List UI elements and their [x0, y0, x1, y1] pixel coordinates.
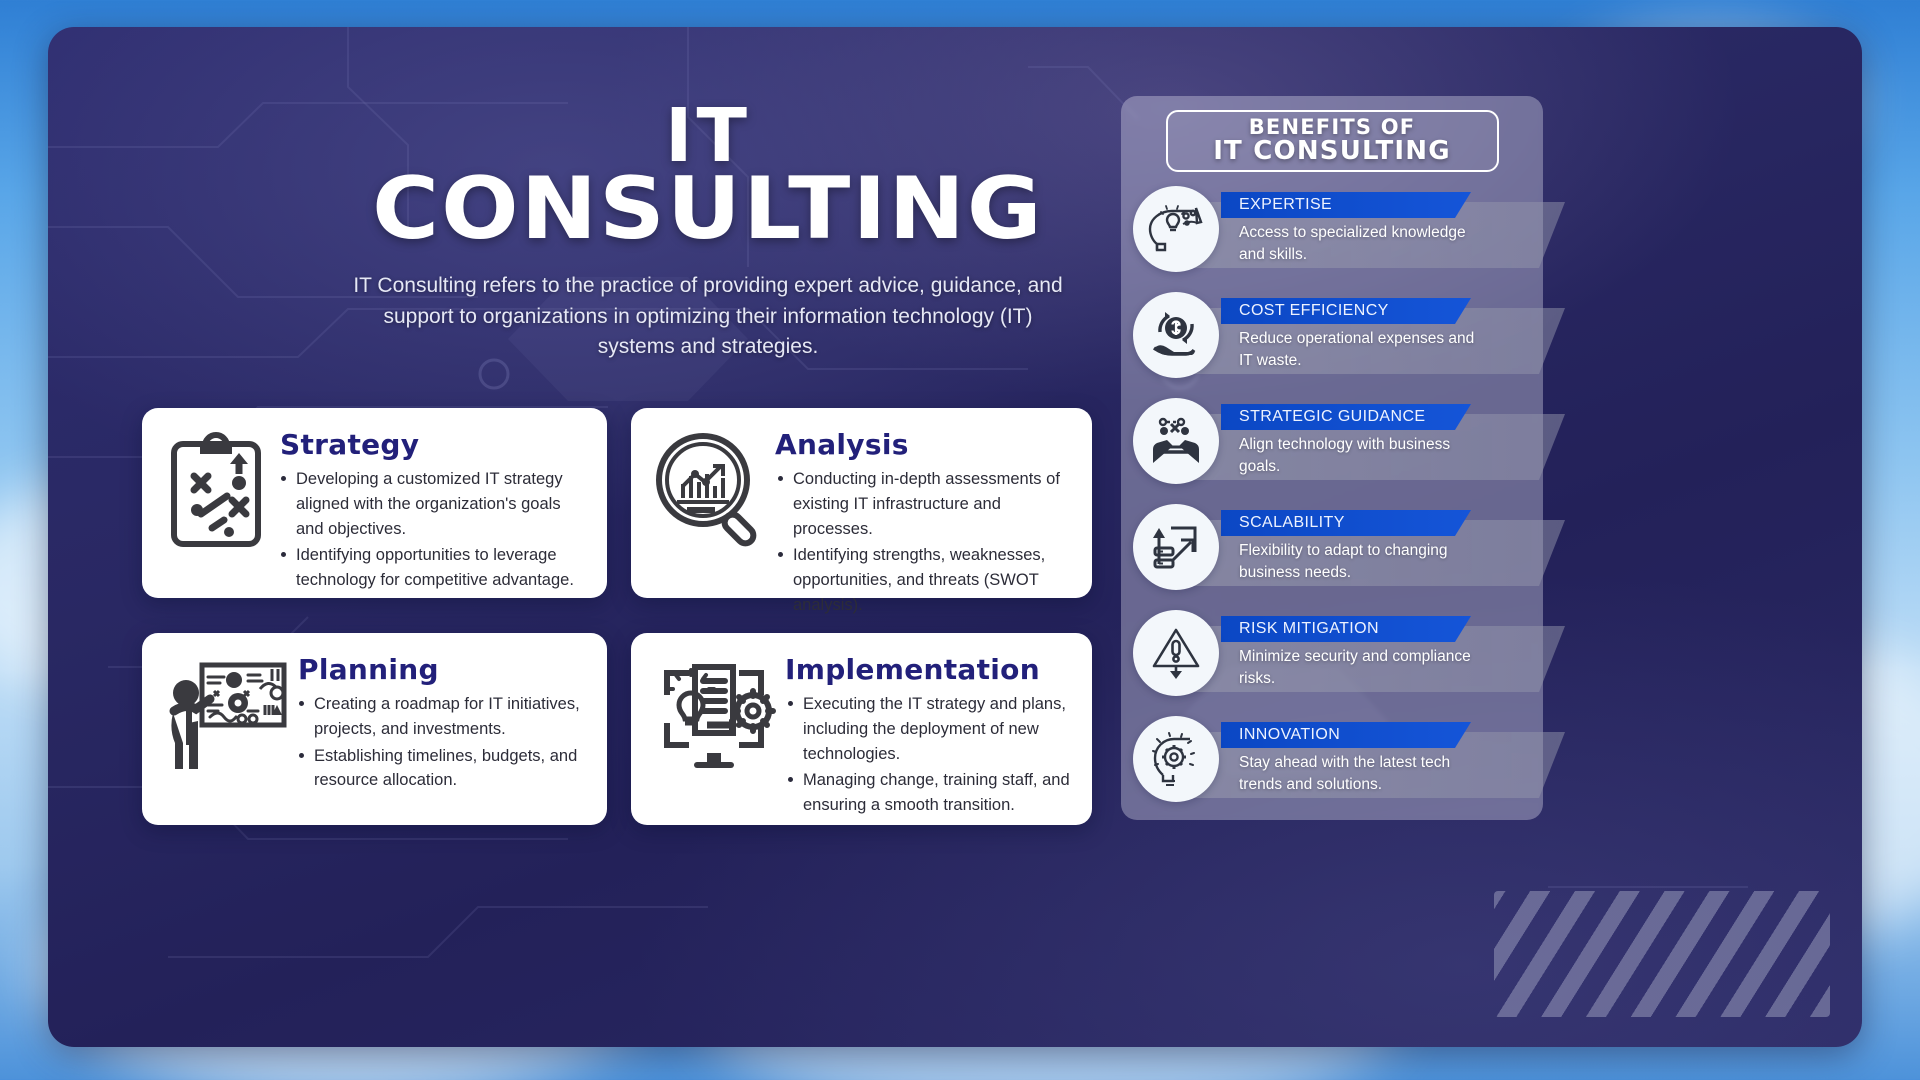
card-implementation[interactable]: Implementation Executing the IT strategy…	[631, 633, 1092, 825]
page-title: IT CONSULTING IT Consulting refers to th…	[348, 102, 1068, 363]
benefit-title: SCALABILITY	[1221, 514, 1345, 532]
card-title: Strategy	[278, 428, 589, 461]
presenter-whiteboard-icon	[160, 653, 290, 779]
benefit-description: Align technology with business goals.	[1239, 434, 1489, 479]
title-line-2: CONSULTING	[326, 170, 1089, 249]
benefit-title-bar: EXPERTISE	[1221, 192, 1471, 218]
benefit-title-bar: SCALABILITY	[1221, 510, 1471, 536]
benefit-description: Minimize security and compliance risks.	[1239, 646, 1489, 691]
benefit-description: Stay ahead with the latest tech trends a…	[1239, 752, 1489, 797]
benefit-title: RISK MITIGATION	[1221, 620, 1379, 638]
card-title: Analysis	[775, 428, 1074, 461]
benefits-heading-line-2: IT CONSULTING	[1213, 138, 1451, 165]
card-bullet: Developing a customized IT strategy alig…	[278, 467, 589, 541]
monitor-gear-bulb-icon	[649, 653, 779, 773]
card-bullet: Creating a roadmap for IT initiatives, p…	[296, 692, 589, 742]
benefits-heading: BENEFITS OF IT CONSULTING	[1166, 110, 1499, 172]
card-bullet: Managing change, training staff, and ens…	[785, 768, 1074, 818]
benefit-title-bar: STRATEGIC GUIDANCE	[1221, 404, 1471, 430]
card-bullet: Identifying opportunities to leverage te…	[278, 543, 589, 593]
benefits-panel: BENEFITS OF IT CONSULTING	[1121, 96, 1543, 820]
benefit-title-bar: COST EFFICIENCY	[1221, 298, 1471, 324]
benefit-title: EXPERTISE	[1221, 196, 1332, 214]
benefit-item-innovation[interactable]: INNOVATION Stay ahead with the latest te…	[1121, 708, 1543, 814]
benefit-item-scalability[interactable]: SCALABILITY Flexibility to adapt to chan…	[1121, 496, 1543, 602]
bulb-gear-icon	[1133, 716, 1219, 802]
card-bullet-list: Executing the IT strategy and plans, inc…	[785, 692, 1074, 818]
infographic-panel: IT CONSULTING IT Consulting refers to th…	[48, 27, 1862, 1047]
card-bullet: Establishing timelines, budgets, and res…	[296, 744, 589, 794]
benefit-title: STRATEGIC GUIDANCE	[1221, 408, 1425, 426]
card-title: Planning	[296, 653, 589, 686]
warning-triangle-icon	[1133, 610, 1219, 696]
card-bullet: Executing the IT strategy and plans, inc…	[785, 692, 1074, 766]
benefit-item-risk-mitigation[interactable]: RISK MITIGATION Minimize security and co…	[1121, 602, 1543, 708]
card-bullet-list: Developing a customized IT strategy alig…	[278, 467, 589, 593]
diagonal-stripes-decoration	[1494, 891, 1830, 1017]
dollar-hand-icon	[1133, 292, 1219, 378]
benefit-title-bar: RISK MITIGATION	[1221, 616, 1471, 642]
scale-arrows-icon	[1133, 504, 1219, 590]
card-strategy[interactable]: Strategy Developing a customized IT stra…	[142, 408, 607, 598]
benefit-item-expertise[interactable]: EXPERTISE Access to specialized knowledg…	[1121, 178, 1543, 284]
subtitle-text: IT Consulting refers to the practice of …	[348, 271, 1068, 362]
benefit-description: Flexibility to adapt to changing busines…	[1239, 540, 1489, 585]
head-ideas-icon	[1133, 186, 1219, 272]
card-bullet-list: Creating a roadmap for IT initiatives, p…	[296, 692, 589, 793]
strategy-people-icon	[1133, 398, 1219, 484]
card-analysis[interactable]: Analysis Conducting in-depth assessments…	[631, 408, 1092, 598]
benefit-title: INNOVATION	[1221, 726, 1340, 744]
magnifier-chart-icon	[649, 428, 769, 552]
card-bullet: Conducting in-depth assessments of exist…	[775, 467, 1074, 541]
benefit-title-bar: INNOVATION	[1221, 722, 1471, 748]
card-bullet: Identifying strengths, weaknesses, oppor…	[775, 543, 1074, 617]
benefits-list: EXPERTISE Access to specialized knowledg…	[1121, 178, 1543, 814]
clipboard-strategy-icon	[160, 428, 272, 552]
card-title: Implementation	[785, 653, 1074, 686]
benefit-description: Access to specialized knowledge and skil…	[1239, 222, 1489, 267]
card-bullet-list: Conducting in-depth assessments of exist…	[775, 467, 1074, 618]
card-planning[interactable]: Planning Creating a roadmap for IT initi…	[142, 633, 607, 825]
benefit-item-strategic-guidance[interactable]: STRATEGIC GUIDANCE Align technology with…	[1121, 390, 1543, 496]
benefit-title: COST EFFICIENCY	[1221, 302, 1389, 320]
benefit-item-cost-efficiency[interactable]: COST EFFICIENCY Reduce operational expen…	[1121, 284, 1543, 390]
benefit-description: Reduce operational expenses and IT waste…	[1239, 328, 1489, 373]
